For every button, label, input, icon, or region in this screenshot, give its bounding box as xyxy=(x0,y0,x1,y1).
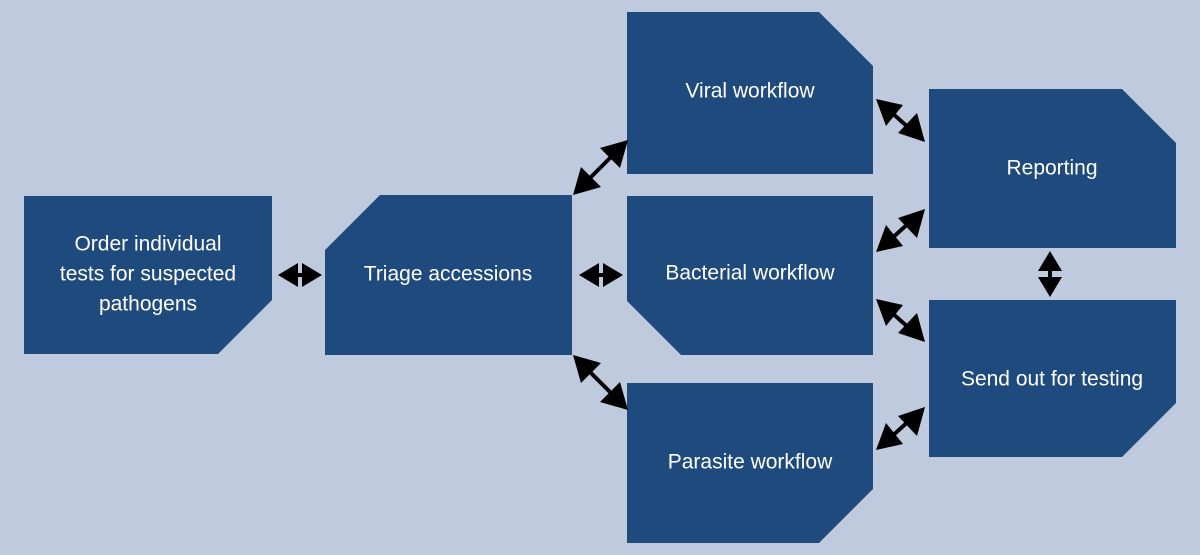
connector-reporting-to-send-out xyxy=(1038,251,1062,297)
diagram-canvas: Order individual tests for suspected pat… xyxy=(0,0,1200,555)
node-shape-triage-accessions xyxy=(325,195,572,355)
node-reporting[interactable]: Reporting xyxy=(929,89,1176,248)
arrow-head-order-to-triage-right xyxy=(302,263,322,287)
connector-triage-to-viral xyxy=(573,140,628,195)
arrow-head-bacterial-to-reporting-end xyxy=(898,209,925,238)
arrow-head-parasite-to-send-out-end xyxy=(898,407,925,436)
node-shape-send-out-for-testing xyxy=(929,300,1176,457)
arrow-head-bacterial-to-reporting-start xyxy=(876,225,903,252)
connector-triage-to-bacterial xyxy=(579,263,623,287)
node-shape-parasite-workflow xyxy=(627,383,873,543)
connector-bacterial-to-send-out xyxy=(876,299,925,342)
arrow-head-triage-to-bacterial-left xyxy=(579,263,599,287)
arrow-head-viral-to-reporting-end xyxy=(898,113,925,142)
arrow-head-reporting-to-send-out-down xyxy=(1038,277,1062,297)
node-shape-viral-workflow xyxy=(627,12,873,174)
connector-parasite-to-send-out xyxy=(876,407,925,450)
node-send-out-for-testing[interactable]: Send out for testing xyxy=(929,300,1176,457)
arrow-head-bacterial-to-send-out-start xyxy=(876,299,903,326)
node-shape-bacterial-workflow xyxy=(627,196,873,355)
node-shape-order-individual-tests xyxy=(24,196,272,354)
connector-triage-to-parasite xyxy=(573,355,628,410)
connector-bacterial-to-reporting xyxy=(876,209,925,252)
node-parasite-workflow[interactable]: Parasite workflow xyxy=(627,383,873,543)
workflow-diagram: Order individual tests for suspected pat… xyxy=(0,0,1200,555)
arrow-head-viral-to-reporting-start xyxy=(876,99,903,126)
node-bacterial-workflow[interactable]: Bacterial workflow xyxy=(627,196,873,355)
arrow-head-reporting-to-send-out-up xyxy=(1038,251,1062,271)
node-shape-reporting xyxy=(929,89,1176,248)
node-viral-workflow[interactable]: Viral workflow xyxy=(627,12,873,174)
node-order-individual-tests[interactable]: Order individual tests for suspected pat… xyxy=(24,196,272,354)
node-triage-accessions[interactable]: Triage accessions xyxy=(325,195,572,355)
arrow-head-triage-to-bacterial-right xyxy=(603,263,623,287)
arrow-head-order-to-triage-left xyxy=(278,263,298,287)
arrow-head-parasite-to-send-out-start xyxy=(876,423,903,450)
connector-viral-to-reporting xyxy=(876,99,925,142)
connector-order-to-triage xyxy=(278,263,322,287)
arrow-head-bacterial-to-send-out-end xyxy=(898,313,925,342)
